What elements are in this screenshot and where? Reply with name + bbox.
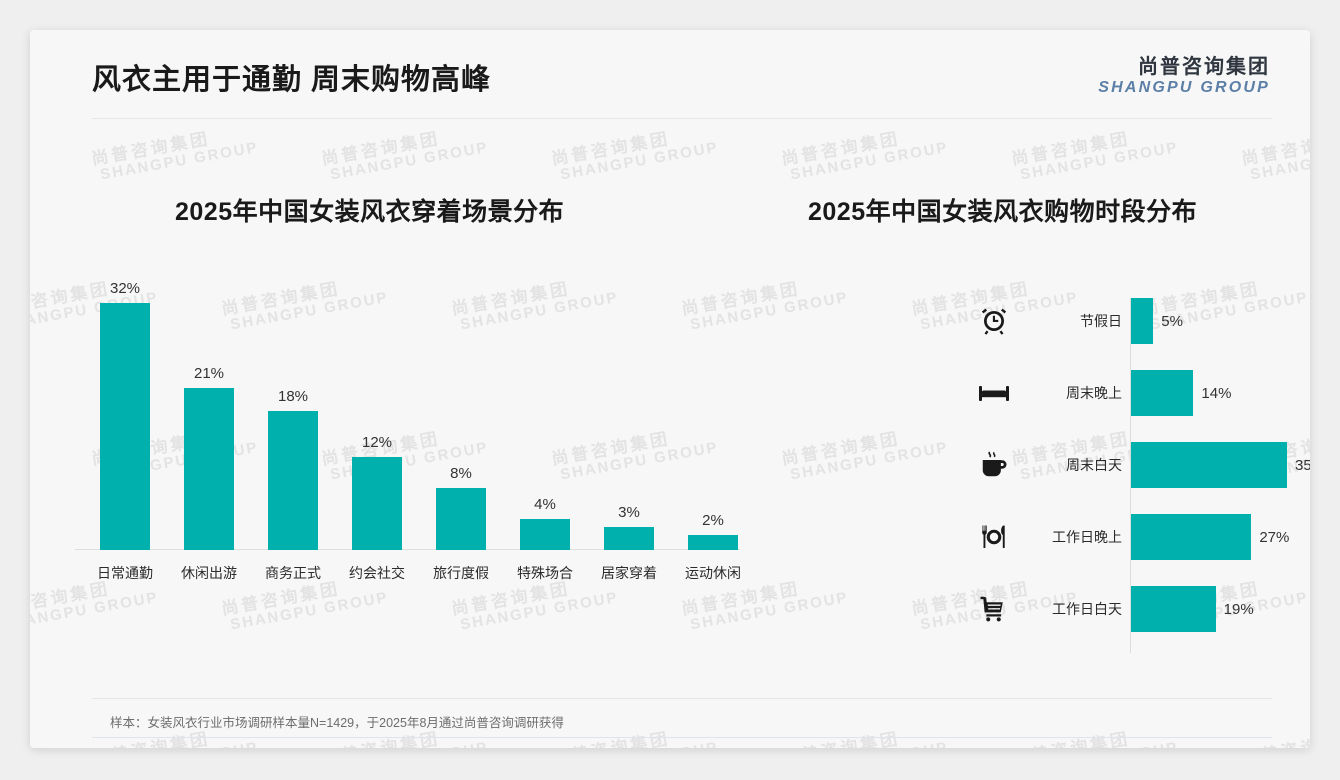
- bar-value-label: 4%: [503, 496, 587, 513]
- bar-row: 周末白天35%: [960, 442, 1310, 488]
- bar: [1131, 370, 1193, 416]
- watermark-text: 尚普咨询集团SHANGPU GROUP: [780, 721, 950, 748]
- bar: [1131, 586, 1216, 632]
- bar-category-label: 周末白天: [1030, 455, 1122, 475]
- bar-value-label: 8%: [419, 465, 503, 482]
- watermark-text: 尚普咨询集团SHANGPU GROUP: [1240, 121, 1310, 185]
- bar-group: 3%居家穿着: [587, 527, 671, 550]
- watermark-text: 尚普咨询集团SHANGPU GROUP: [550, 721, 720, 748]
- bar: [352, 457, 402, 550]
- bar: [436, 488, 486, 550]
- bar-value-label: 18%: [251, 388, 335, 405]
- page-title: 风衣主用于通勤 周末购物高峰: [92, 56, 491, 98]
- watermark-text: 尚普咨询集团SHANGPU GROUP: [320, 121, 490, 185]
- bar-category-label: 工作日白天: [1030, 599, 1122, 619]
- watermark-text: 尚普咨询集团SHANGPU GROUP: [90, 121, 260, 185]
- bar-wrapper: 19%: [1131, 586, 1254, 632]
- watermark-text: 尚普咨询集团SHANGPU GROUP: [1010, 121, 1180, 185]
- watermark-text: 尚普咨询集团SHANGPU GROUP: [780, 121, 950, 185]
- bar-value-label: 21%: [167, 365, 251, 382]
- dinner-plate-icon: [978, 521, 1010, 553]
- bar: [100, 303, 150, 550]
- bar-value-label: 32%: [83, 280, 167, 297]
- alarm-clock-icon: [978, 305, 1010, 337]
- wearing-scenario-chart: 32%日常通勤21%休闲出游18%商务正式12%约会社交8%旅行度假4%特殊场合…: [75, 265, 755, 605]
- bar-group: 12%约会社交: [335, 457, 419, 550]
- logo-english-text: SHANGPU GROUP: [1098, 79, 1270, 97]
- bar-group: 18%商务正式: [251, 411, 335, 550]
- bar-category-label: 周末晚上: [1030, 383, 1122, 403]
- bar-value-label: 19%: [1224, 601, 1254, 618]
- bar: [184, 388, 234, 550]
- header: 风衣主用于通勤 周末购物高峰 尚普咨询集团 SHANGPU GROUP: [30, 30, 1310, 118]
- footer-divider: [92, 737, 1272, 738]
- bar: [268, 411, 318, 550]
- bar-category-label: 节假日: [1030, 311, 1122, 331]
- bar-wrapper: 5%: [1131, 298, 1183, 344]
- header-divider: [92, 118, 1272, 119]
- bar-row: 工作日白天19%: [960, 586, 1310, 632]
- bar-group: 21%休闲出游: [167, 388, 251, 550]
- bar-row: 周末晚上14%: [960, 370, 1310, 416]
- coffee-cup-icon: [978, 449, 1010, 481]
- bar: [520, 519, 570, 550]
- bar: [1131, 514, 1251, 560]
- watermark-text: 尚普咨询集团SHANGPU GROUP: [780, 421, 950, 485]
- bar-group: 32%日常通勤: [83, 303, 167, 550]
- bar: [1131, 298, 1153, 344]
- bar-value-label: 5%: [1161, 313, 1183, 330]
- bar-row: 节假日5%: [960, 298, 1310, 344]
- right-chart-title: 2025年中国女装风衣购物时段分布: [808, 192, 1197, 228]
- shopping-time-chart: 节假日5%周末晚上14%周末白天35%工作日晚上27%工作日白天19%: [960, 292, 1310, 657]
- bar-wrapper: 27%: [1131, 514, 1289, 560]
- bar-value-label: 14%: [1201, 385, 1231, 402]
- bar-group: 4%特殊场合: [503, 519, 587, 550]
- bar-group: 2%运动休闲: [671, 535, 755, 550]
- bar: [1131, 442, 1287, 488]
- brand-logo: 尚普咨询集团 SHANGPU GROUP: [1098, 56, 1270, 97]
- watermark-text: 尚普咨询集团SHANGPU GROUP: [1010, 721, 1180, 748]
- left-chart-title: 2025年中国女装风衣穿着场景分布: [175, 192, 564, 228]
- bar-group: 8%旅行度假: [419, 488, 503, 550]
- bar-row: 工作日晚上27%: [960, 514, 1310, 560]
- sample-note: 样本：女装风衣行业市场调研样本量N=1429，于2025年8月通过尚普咨询调研获…: [110, 712, 564, 731]
- bar-value-label: 2%: [671, 512, 755, 529]
- watermark-text: 尚普咨询集团SHANGPU GROUP: [550, 121, 720, 185]
- bar-value-label: 12%: [335, 434, 419, 451]
- bar-wrapper: 14%: [1131, 370, 1231, 416]
- bar-category-label: 工作日晚上: [1030, 527, 1122, 547]
- watermark-text: 尚普咨询集团SHANGPU GROUP: [1240, 721, 1310, 748]
- bar-value-label: 35%: [1295, 457, 1310, 474]
- bar-category-label: 运动休闲: [663, 563, 763, 583]
- infographic-card: 尚普咨询集团SHANGPU GROUP尚普咨询集团SHANGPU GROUP尚普…: [30, 30, 1310, 748]
- bar: [688, 535, 738, 550]
- bed-icon: [978, 377, 1010, 409]
- bar: [604, 527, 654, 550]
- bar-wrapper: 35%: [1131, 442, 1310, 488]
- shopping-cart-icon: [978, 593, 1010, 625]
- bar-value-label: 27%: [1259, 529, 1289, 546]
- bar-value-label: 3%: [587, 504, 671, 521]
- note-divider: [92, 698, 1272, 699]
- logo-chinese-text: 尚普咨询集团: [1098, 56, 1270, 79]
